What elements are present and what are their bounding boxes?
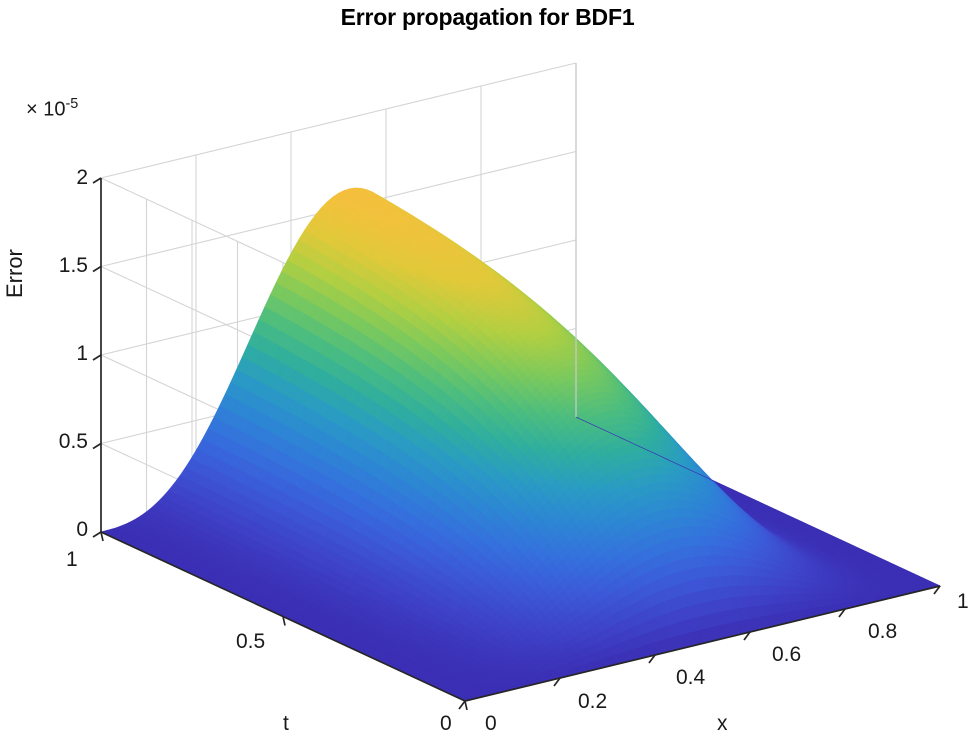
z-axis-exponent: × 10-5 xyxy=(26,96,78,122)
x-tick-label: 0.2 xyxy=(578,690,607,714)
surface-mesh xyxy=(101,188,940,701)
t-tick-label: 0 xyxy=(440,712,452,736)
t-tick-label: 1 xyxy=(66,548,78,572)
x-tick-label: 1 xyxy=(957,590,969,614)
x-tick-label: 0 xyxy=(485,712,497,736)
x-axis-label: x xyxy=(717,712,728,736)
t-axis-label: t xyxy=(283,712,289,736)
z-axis-label: Error xyxy=(2,249,28,298)
surface-plot-canvas xyxy=(0,0,975,748)
x-tick-label: 0.6 xyxy=(772,643,801,667)
matlab-figure-window: Error propagation for BDF1 × 10-5 Error … xyxy=(0,0,975,748)
z-tick-label: 1.5 xyxy=(40,254,88,278)
t-tick-label: 0.5 xyxy=(236,630,265,654)
z-tick-label: 0.5 xyxy=(40,430,88,454)
z-tick-label: 0 xyxy=(64,518,88,542)
z-tick-label: 1 xyxy=(64,342,88,366)
x-tick-label: 0.8 xyxy=(868,620,897,644)
x-tick-label: 0.4 xyxy=(676,666,705,690)
z-tick-label: 2 xyxy=(64,166,88,190)
